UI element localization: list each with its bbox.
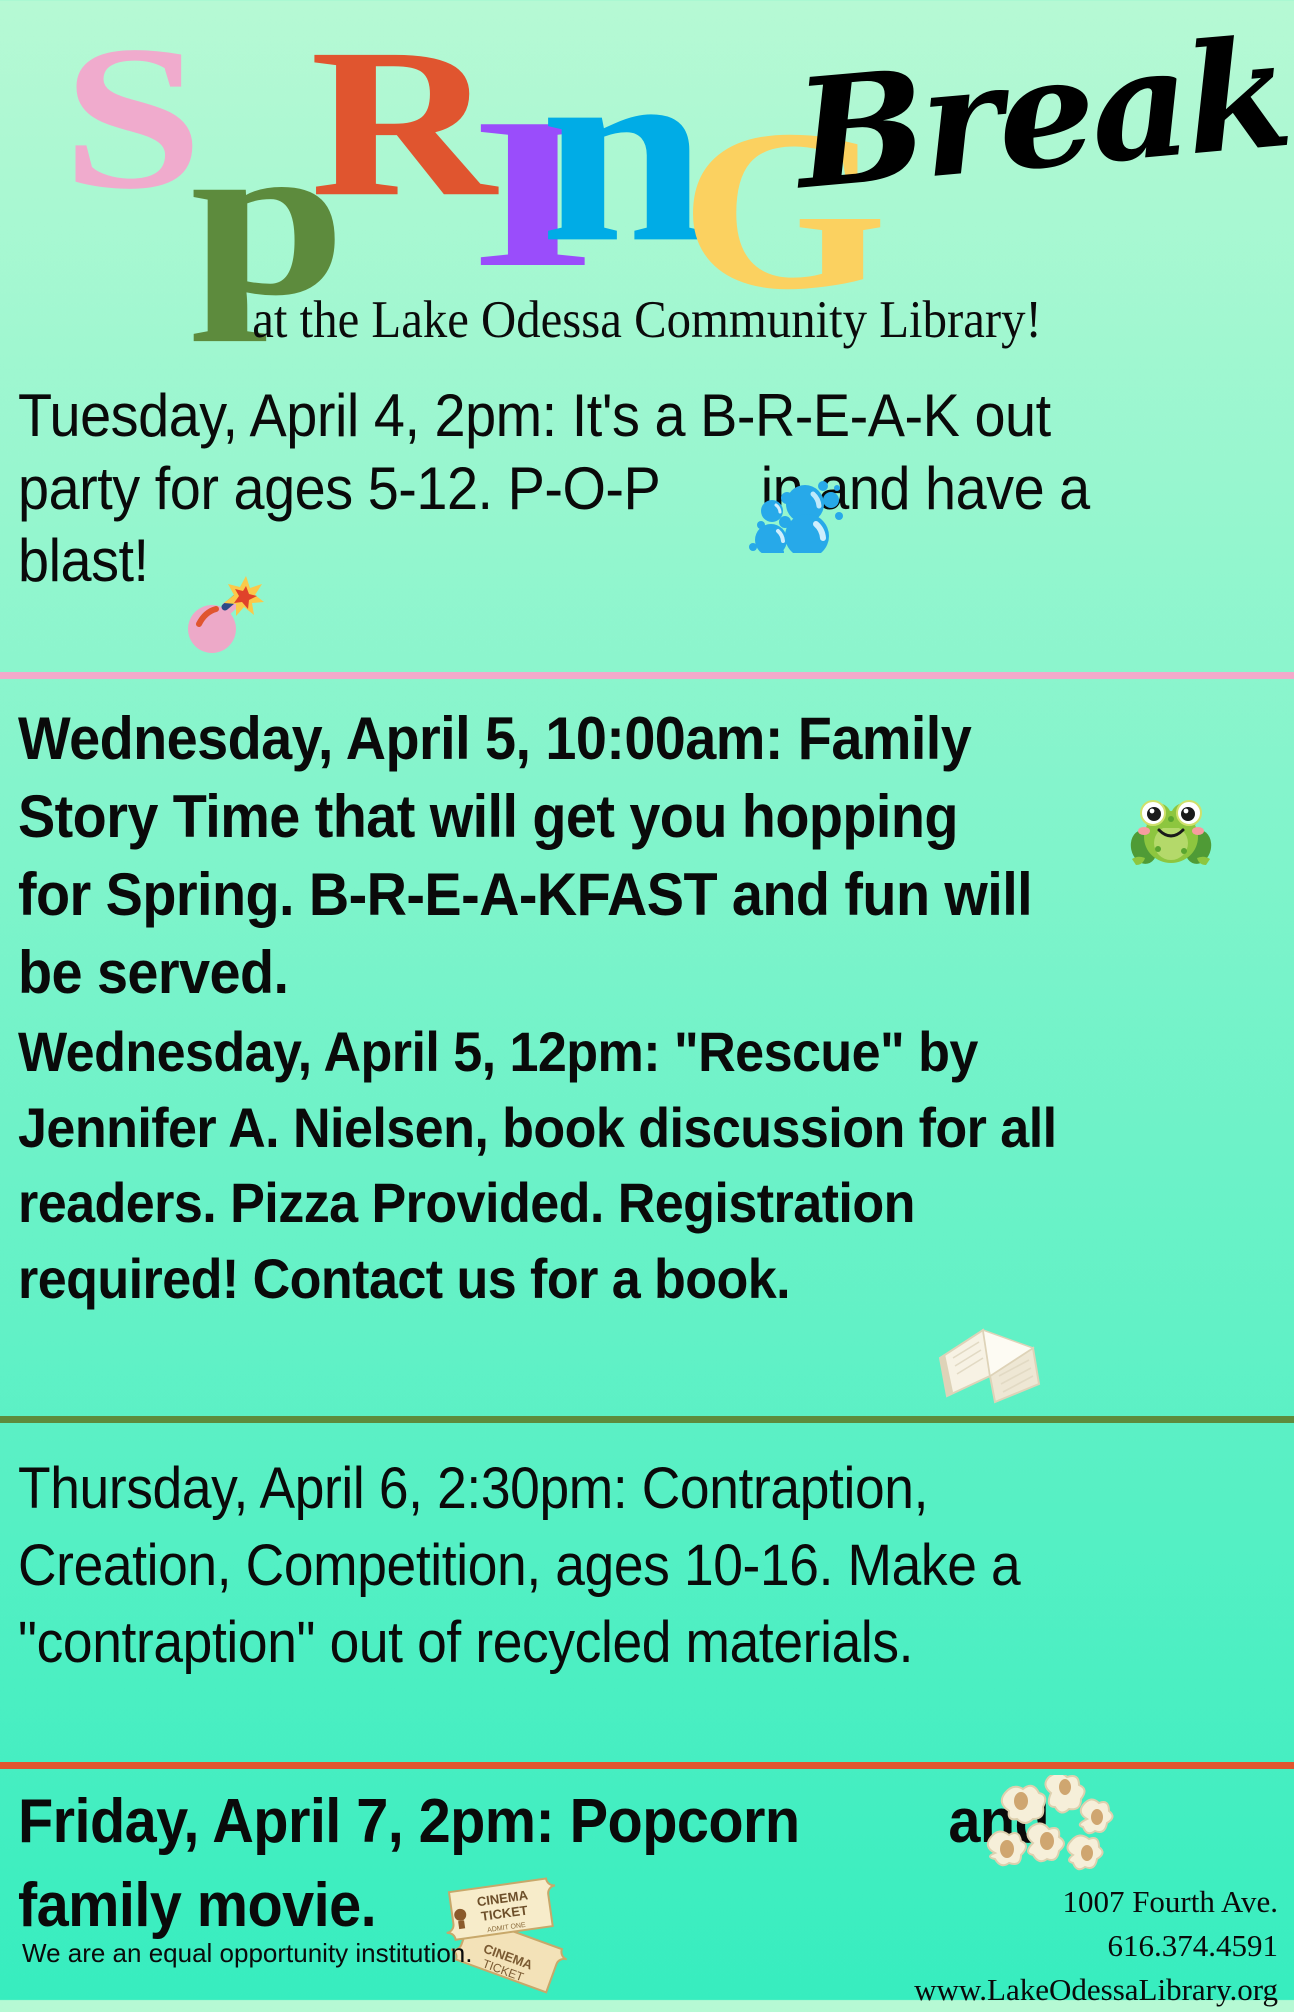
spring-wordmark: S p R I n G (40, 0, 800, 280)
event-block-wednesday: Wednesday, April 5, 10:00am: Family Stor… (0, 700, 1294, 1315)
event-line: readers. Pizza Provided. Registration (18, 1167, 1270, 1239)
break-script-word: Break (790, 18, 1293, 210)
event-line: Tuesday, April 4, 2pm: It's a B-R-E-A-K … (18, 380, 1270, 453)
event-block-thursday: Thursday, April 6, 2:30pm: Contraption, … (0, 1450, 1294, 1681)
library-address: 1007 Fourth Ave. (914, 1880, 1278, 1924)
section-divider-pink (0, 672, 1294, 679)
poster-subtitle: at the Lake Odessa Community Library! (52, 290, 1242, 350)
event-line: party for ages 5-12. P-O-Pin and have a (18, 453, 1270, 526)
event-line: Jennifer A. Nielsen, book discussion for… (18, 1092, 1270, 1164)
event-line: "contraption" out of recycled materials. (18, 1604, 1268, 1681)
event-line: Thursday, April 6, 2:30pm: Contraption, (18, 1450, 1268, 1527)
library-website[interactable]: www.LakeOdessaLibrary.org (914, 1968, 1278, 2012)
event-line: Creation, Competition, ages 10-16. Make … (18, 1527, 1268, 1604)
library-phone: 616.374.4591 (914, 1924, 1278, 1968)
event-line-text: Friday, April 7, 2pm: Popcorn (18, 1787, 800, 1856)
section-divider-green (0, 1416, 1294, 1423)
event-line: for Spring. B-R-E-A-KFAST and fun will (18, 856, 1270, 934)
popcorn-icon (975, 1775, 1125, 1895)
bubbles-icon (745, 478, 845, 553)
poster-header: S p R I n G Break at the Lake Odessa Com… (0, 0, 1294, 300)
open-book-icon (935, 1318, 1045, 1404)
event-line: Wednesday, April 5, 10:00am: Family (18, 700, 1270, 778)
contact-info: 1007 Fourth Ave. 616.374.4591 www.LakeOd… (914, 1880, 1278, 2012)
event-block-tuesday: Tuesday, April 4, 2pm: It's a B-R-E-A-K … (0, 380, 1294, 598)
event-line: be served. (18, 934, 1270, 1012)
equal-opportunity-statement: We are an equal opportunity institution. (22, 1938, 472, 1969)
event-line: required! Contact us for a book. (18, 1243, 1270, 1315)
bomb-icon (178, 572, 264, 654)
spring-letter-s: S (62, 14, 203, 220)
section-divider-orange (0, 1762, 1294, 1769)
event-line: Wednesday, April 5, 12pm: "Rescue" by (18, 1016, 1270, 1088)
frog-icon (1128, 785, 1214, 867)
event-line-text: party for ages 5-12. P-O-P (18, 455, 660, 522)
spring-letter-r: R (310, 16, 496, 229)
event-line: Story Time that will get you hopping (18, 778, 1270, 856)
event-line-text: blast! (18, 527, 149, 594)
